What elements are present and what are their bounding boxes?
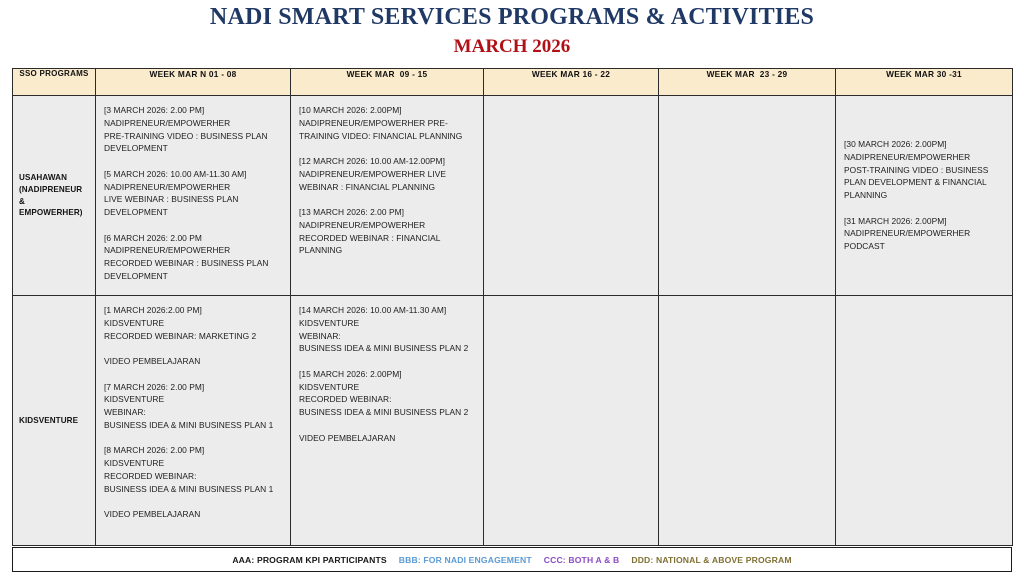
page-title: NADI SMART SERVICES PROGRAMS & ACTIVITIE… — [0, 4, 1024, 32]
schedule-table: SSO PROGRAMS WEEK MAR N 01 - 08 WEEK MAR… — [12, 68, 1013, 546]
header-row: SSO PROGRAMS WEEK MAR N 01 - 08 WEEK MAR… — [13, 69, 1013, 96]
legend-item-ccc: CCC: BOTH A & B — [544, 555, 620, 565]
page-subtitle: MARCH 2026 — [0, 36, 1024, 59]
cell-kidsventure-week-5 — [836, 296, 1013, 546]
row-label-usahawan: USAHAWAN (NADIPRENEUR & EMPOWERHER) — [13, 96, 96, 296]
table-header: SSO PROGRAMS WEEK MAR N 01 - 08 WEEK MAR… — [13, 69, 1013, 96]
column-header-week-3: WEEK MAR 16 - 22 — [484, 69, 659, 96]
cell-kidsventure-week-3 — [484, 296, 659, 546]
legend-bar: AAA: PROGRAM KPI PARTICIPANTS BBB: FOR N… — [12, 547, 1012, 572]
cell-usahawan-week-1: [3 MARCH 2026: 2.00 PM] NADIPRENEUR/EMPO… — [96, 96, 291, 296]
schedule-page: NADI SMART SERVICES PROGRAMS & ACTIVITIE… — [0, 0, 1024, 576]
column-header-week-2: WEEK MAR 09 - 15 — [291, 69, 484, 96]
cell-kidsventure-week-4 — [659, 296, 836, 546]
title-block: NADI SMART SERVICES PROGRAMS & ACTIVITIE… — [0, 0, 1024, 58]
column-header-sso-programs: SSO PROGRAMS — [13, 69, 96, 96]
row-label-kidsventure: KIDSVENTURE — [13, 296, 96, 546]
cell-usahawan-week-5: [30 MARCH 2026: 2.00PM] NADIPRENEUR/EMPO… — [836, 96, 1013, 296]
legend-item-aaa: AAA: PROGRAM KPI PARTICIPANTS — [232, 555, 386, 565]
column-header-week-1: WEEK MAR N 01 - 08 — [96, 69, 291, 96]
column-header-week-4: WEEK MAR 23 - 29 — [659, 69, 836, 96]
cell-usahawan-week-2: [10 MARCH 2026: 2.00PM] NADIPRENEUR/EMPO… — [291, 96, 484, 296]
table-row: USAHAWAN (NADIPRENEUR & EMPOWERHER) [3 M… — [13, 96, 1013, 296]
cell-usahawan-week-4 — [659, 96, 836, 296]
table-row: KIDSVENTURE [1 MARCH 2026:2.00 PM] KIDSV… — [13, 296, 1013, 546]
cell-kidsventure-week-1: [1 MARCH 2026:2.00 PM] KIDSVENTURE RECOR… — [96, 296, 291, 546]
table-body: USAHAWAN (NADIPRENEUR & EMPOWERHER) [3 M… — [13, 96, 1013, 546]
column-header-week-5: WEEK MAR 30 -31 — [836, 69, 1013, 96]
schedule-table-wrap: SSO PROGRAMS WEEK MAR N 01 - 08 WEEK MAR… — [12, 68, 1012, 546]
cell-usahawan-week-3 — [484, 96, 659, 296]
legend-item-ddd: DDD: NATIONAL & ABOVE PROGRAM — [631, 555, 791, 565]
legend-item-bbb: BBB: FOR NADI ENGAGEMENT — [399, 555, 532, 565]
cell-kidsventure-week-2: [14 MARCH 2026: 10.00 AM-11.30 AM] KIDSV… — [291, 296, 484, 546]
